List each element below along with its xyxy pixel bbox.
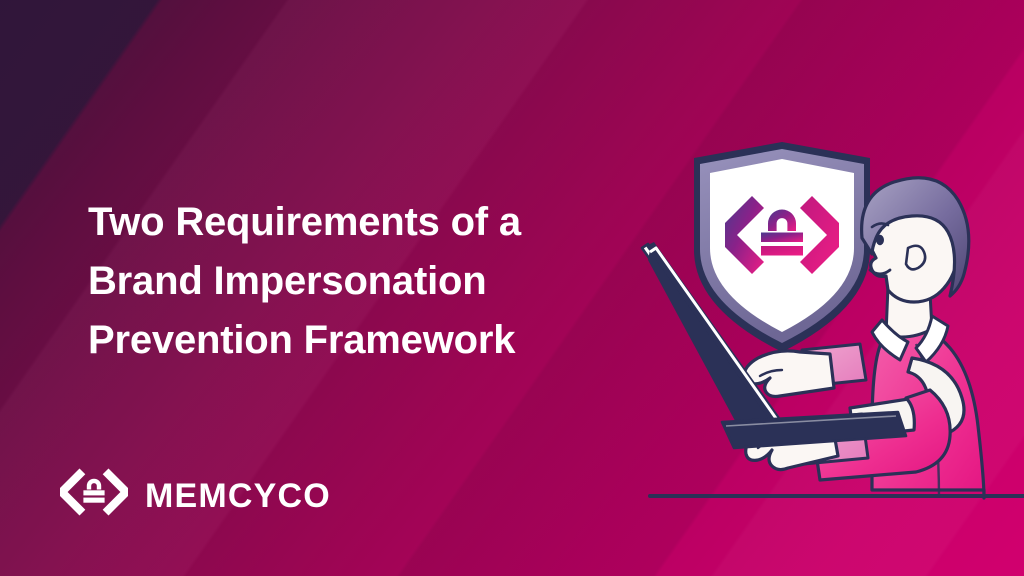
memcyco-wordmark: MEMCYCO [145, 479, 331, 513]
person-at-laptop-illustration [630, 130, 1024, 530]
headline-line-3: Prevention Framework [88, 311, 648, 370]
hero-banner: Two Requirements of a Brand Impersonatio… [0, 0, 1024, 576]
security-shield-icon [694, 142, 870, 352]
memcyco-logo: MEMCYCO [60, 466, 331, 526]
headline-line-2: Brand Impersonation [88, 252, 648, 311]
hero-illustration [630, 130, 1024, 530]
angle-brackets-padlock-mark-icon [60, 466, 128, 526]
headline-line-1: Two Requirements of a [88, 193, 648, 252]
headline: Two Requirements of a Brand Impersonatio… [88, 193, 648, 370]
